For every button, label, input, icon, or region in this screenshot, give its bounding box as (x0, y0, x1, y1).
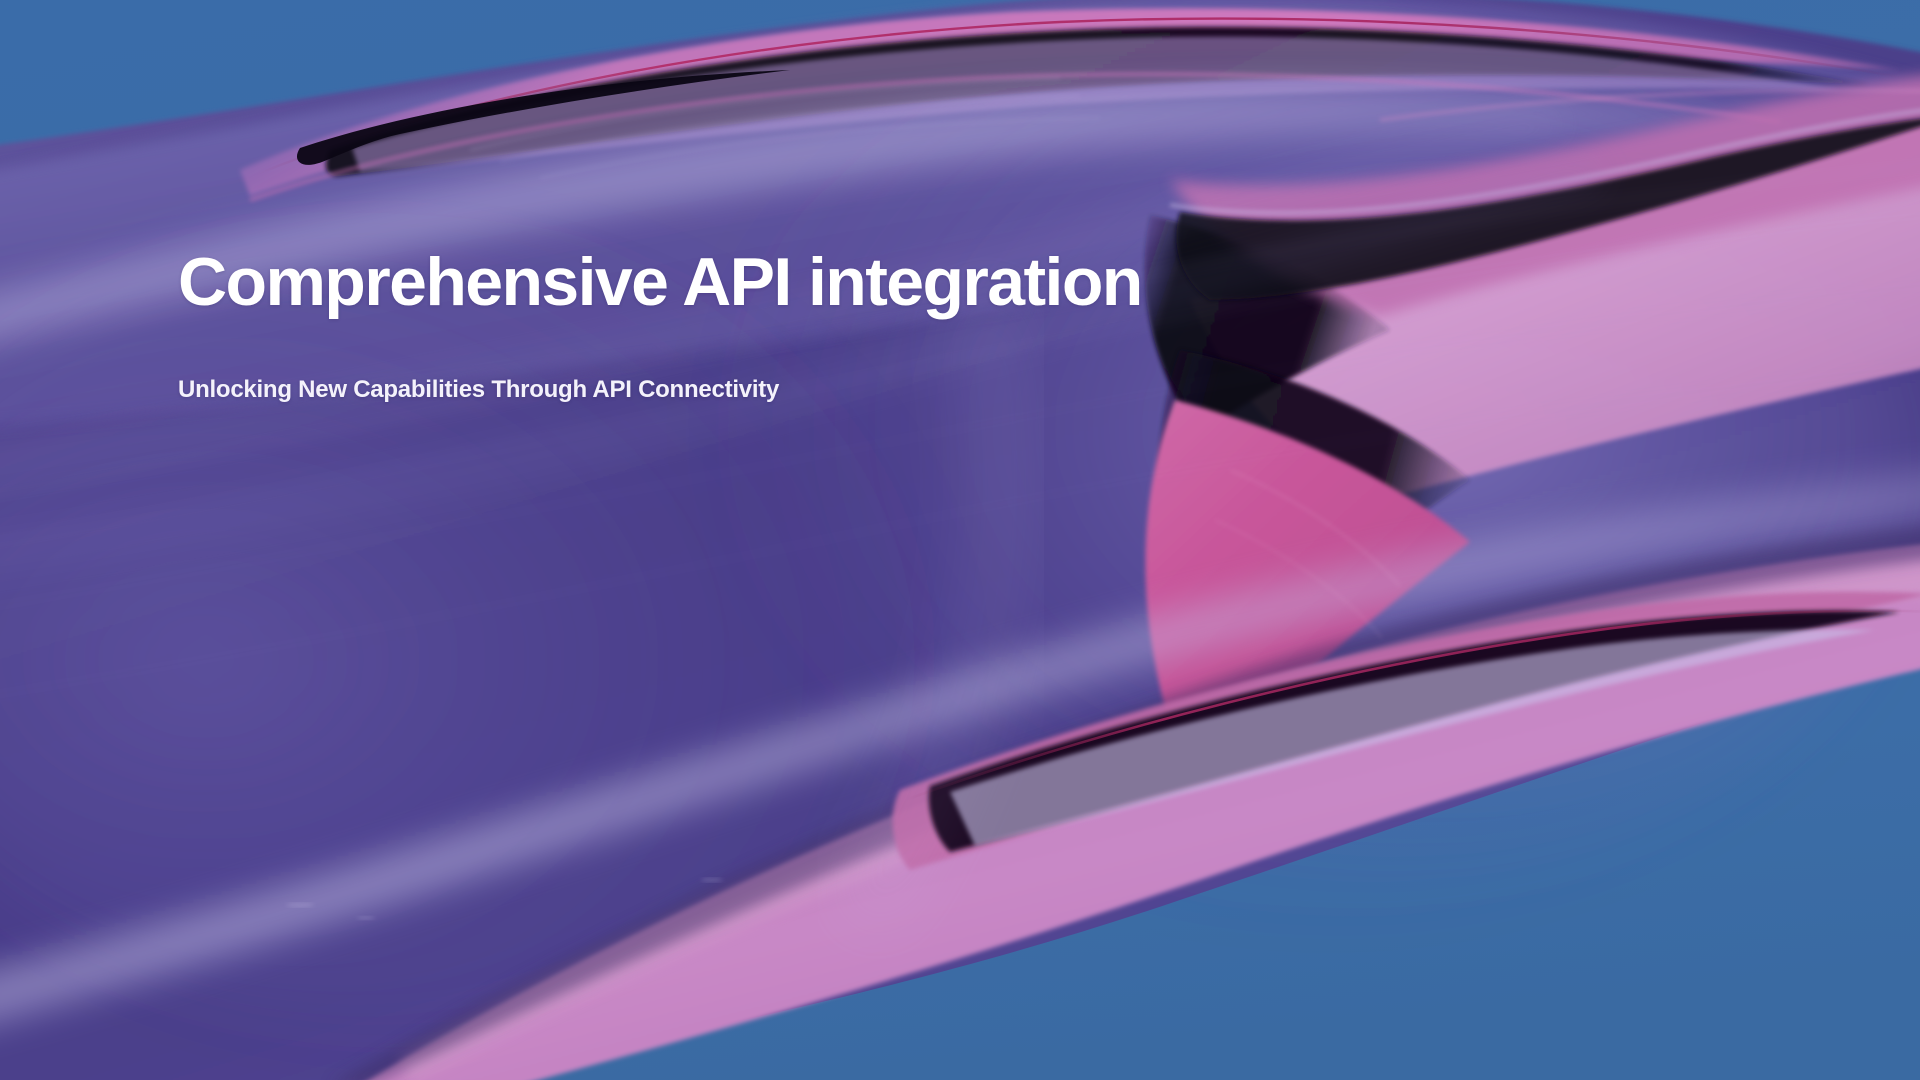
slide-text-block: Comprehensive API integration Unlocking … (178, 246, 1378, 405)
slide-subtitle: Unlocking New Capabilities Through API C… (178, 318, 1378, 405)
title-slide: Comprehensive API integration Unlocking … (0, 0, 1920, 1080)
slide-title: Comprehensive API integration (178, 246, 1378, 318)
abstract-background-artwork (0, 0, 1920, 1080)
